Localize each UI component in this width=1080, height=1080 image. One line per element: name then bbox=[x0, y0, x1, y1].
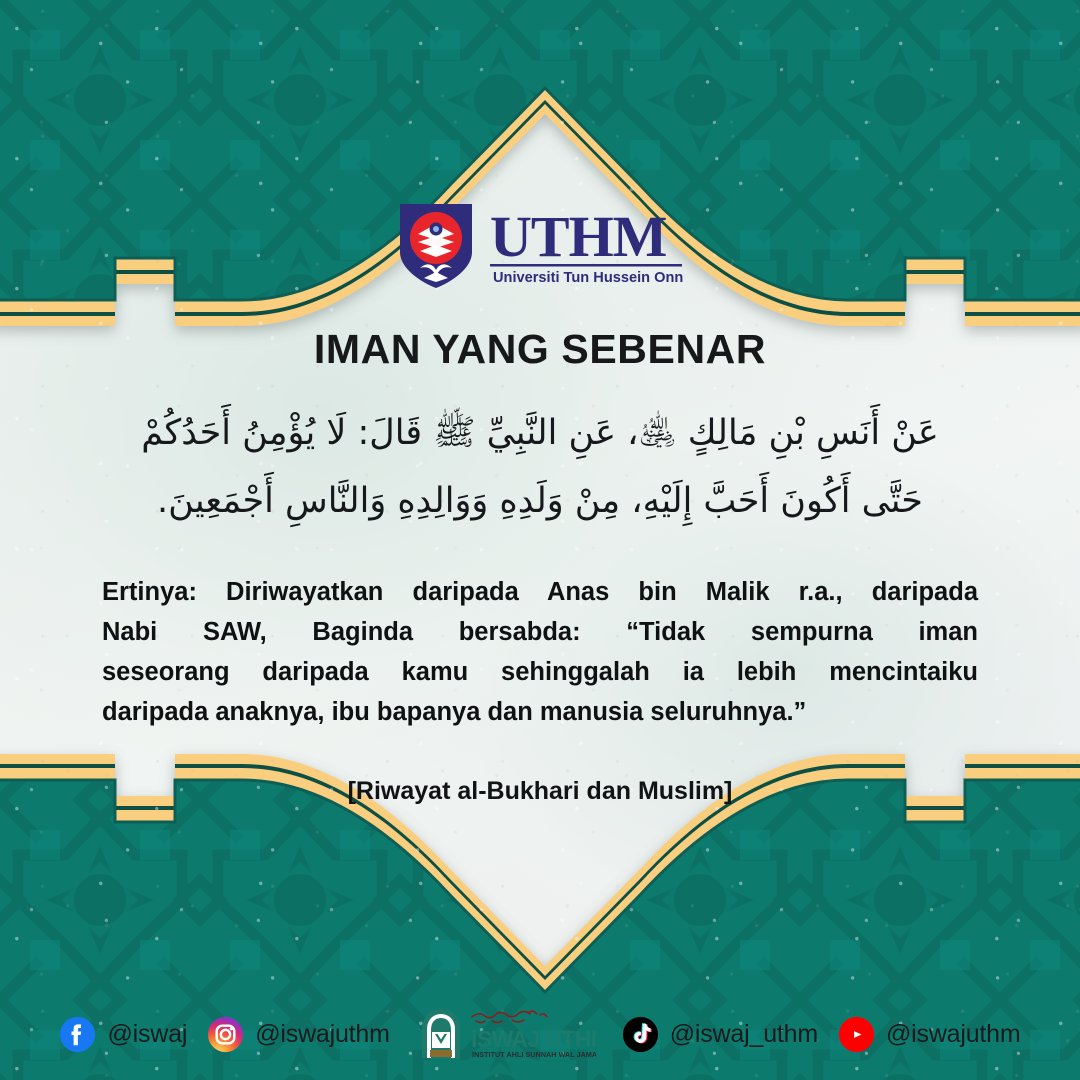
facebook-handle: @iswaj bbox=[107, 1020, 187, 1049]
uthm-wordmark: UTHM bbox=[490, 204, 667, 269]
instagram-icon[interactable] bbox=[207, 1016, 244, 1053]
iswaj-tagline: INSTITUT AHLI SUNNAH WAL JAMAAH UTHM bbox=[472, 1051, 596, 1059]
uthm-tagline: Universiti Tun Hussein Onn Malaysia bbox=[493, 270, 686, 286]
poster-canvas: UTHM Universiti Tun Hussein Onn Malaysia… bbox=[0, 0, 1080, 1080]
translation-line-1: Ertinya: Diriwayatkan daripada Anas bin … bbox=[102, 572, 978, 612]
translation-line-2: Nabi SAW, Baginda bersabda: “Tidak sempu… bbox=[102, 612, 978, 652]
instagram-handle: @iswajuthm bbox=[255, 1020, 390, 1049]
social-tiktok[interactable]: @iswaj_uthm bbox=[622, 1016, 818, 1053]
iswaj-wordmark: iSWAJ UTHM bbox=[471, 1026, 596, 1052]
translation-line-4: daripada anaknya, ibu bapanya dan manusi… bbox=[102, 692, 978, 732]
social-footer: @iswaj @is bbox=[0, 1006, 1080, 1062]
hadith-arabic-line-1: عَنْ أَنَسِ بْنِ مَالِكٍ ﵁، عَنِ النَّبِ… bbox=[90, 399, 990, 467]
page-title: IMAN YANG SEBENAR bbox=[314, 326, 766, 373]
youtube-handle: @iswajuthm bbox=[886, 1020, 1021, 1049]
facebook-icon[interactable] bbox=[59, 1016, 96, 1053]
translation-line-3: seseorang daripada kamu sehinggalah ia l… bbox=[102, 652, 978, 692]
hadith-arabic: عَنْ أَنَسِ بْنِ مَالِكٍ ﵁، عَنِ النَّبِ… bbox=[90, 399, 990, 536]
hadith-translation: Ertinya: Diriwayatkan daripada Anas bin … bbox=[102, 572, 978, 733]
hadith-arabic-line-2: حَتَّى أَكُونَ أَحَبَّ إِلَيْهِ، مِنْ وَ… bbox=[90, 467, 990, 535]
uthm-logo: UTHM Universiti Tun Hussein Onn Malaysia bbox=[394, 200, 686, 292]
tiktok-handle: @iswaj_uthm bbox=[670, 1020, 818, 1049]
iswaj-uthm-logo: iSWAJ UTHM INSTITUT AHLI SUNNAH WAL JAMA… bbox=[416, 1006, 596, 1062]
uthm-logo-svg: UTHM Universiti Tun Hussein Onn Malaysia bbox=[394, 200, 686, 292]
social-facebook[interactable]: @iswaj bbox=[59, 1016, 187, 1053]
social-instagram[interactable]: @iswajuthm bbox=[207, 1016, 390, 1053]
social-youtube[interactable]: @iswajuthm bbox=[838, 1016, 1021, 1053]
youtube-icon[interactable] bbox=[838, 1016, 875, 1053]
iswaj-logo-svg: iSWAJ UTHM INSTITUT AHLI SUNNAH WAL JAMA… bbox=[416, 1006, 596, 1062]
hadith-source: [Riwayat al-Bukhari dan Muslim] bbox=[348, 777, 733, 806]
tiktok-icon[interactable] bbox=[622, 1016, 659, 1053]
